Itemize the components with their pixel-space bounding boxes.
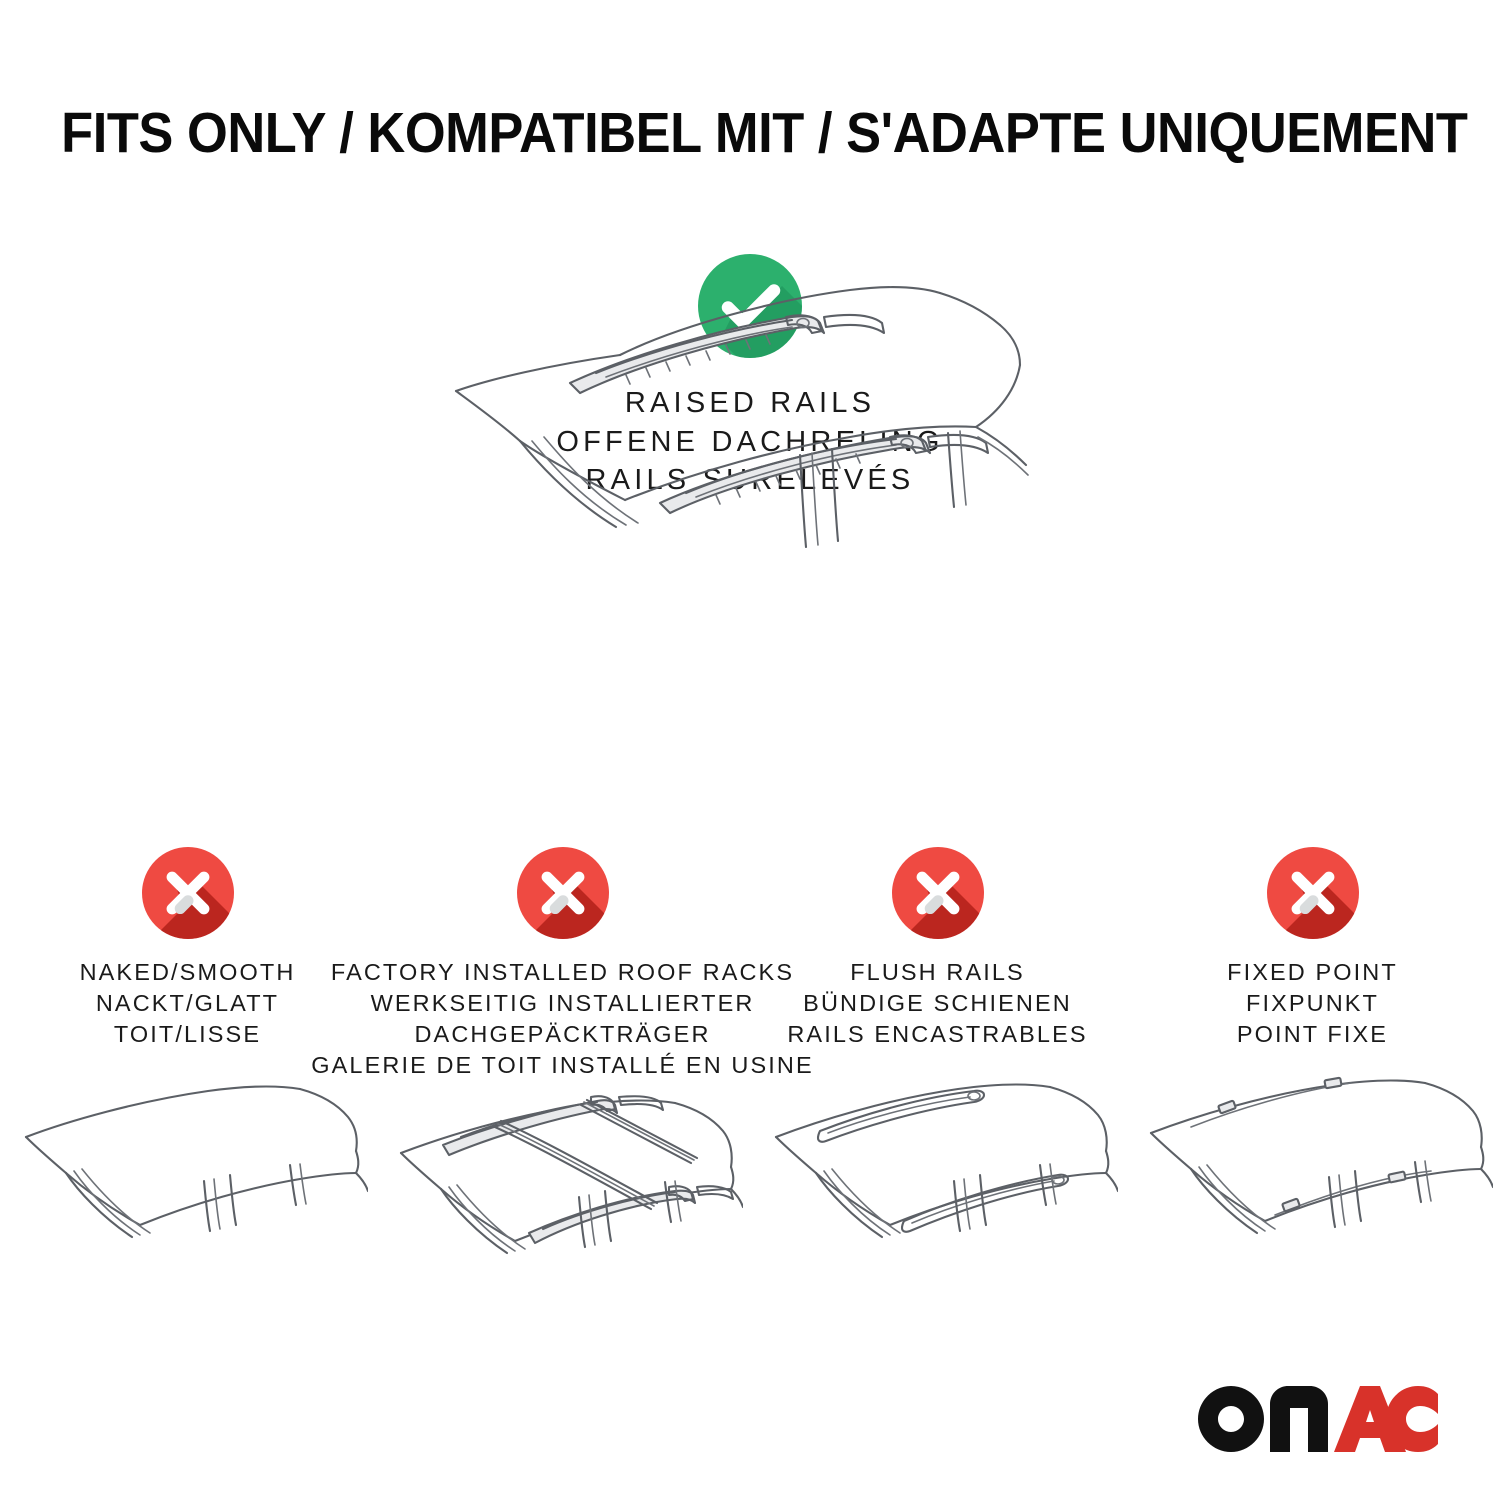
car-roof-fixed-point-illustration [1133,1063,1493,1293]
page-title-text: FITS ONLY / KOMPATIBEL MIT / S'ADAPTE UN… [61,104,1467,164]
x-circle-icon [515,845,611,941]
incompatible-column-flush-rails: FLUSH RAILS BÜNDIGE SCHIENEN RAILS ENCAS… [750,845,1125,1317]
x-circle-icon [1265,845,1361,941]
incompatible-labels: FACTORY INSTALLED ROOF RACKS WERKSEITIG … [311,957,813,1081]
incompatible-column-fixed-point: FIXED POINT FIXPUNKT POINT FIXE [1125,845,1500,1317]
incompatible-label-en: FIXED POINT [1227,957,1398,988]
car-roof-naked-smooth-illustration [8,1063,368,1293]
page-title: FITS ONLY / KOMPATIBEL MIT / S'ADAPTE UN… [0,104,1500,164]
x-circle-icon [140,845,236,941]
incompatible-label-en: FLUSH RAILS [787,957,1087,988]
incompatible-column-factory-roof-racks: FACTORY INSTALLED ROOF RACKS WERKSEITIG … [375,845,750,1317]
incompatible-label-fr: RAILS ENCASTRABLES [787,1019,1087,1050]
incompatible-label-fr: POINT FIXE [1227,1019,1398,1050]
incompatible-label-de: NACKT/GLATT [80,988,296,1019]
car-roof-flush-rails-illustration [758,1063,1118,1293]
incompatible-label-fr: GALERIE DE TOIT INSTALLÉ EN USINE [311,1050,813,1081]
incompatible-label-en: FACTORY INSTALLED ROOF RACKS [311,957,813,988]
incompatible-label-en: NAKED/SMOOTH [80,957,296,988]
incompatible-label-fr: TOIT/LISSE [80,1019,296,1050]
car-roof-raised-rails-illustration [420,255,1080,575]
incompatible-label-de-1: WERKSEITIG INSTALLIERTER [311,988,813,1019]
incompatible-label-de: BÜNDIGE SCHIENEN [787,988,1087,1019]
x-circle-icon [890,845,986,941]
incompatible-section: NAKED/SMOOTH NACKT/GLATT TOIT/LISSE [0,845,1500,1317]
incompatible-labels: NAKED/SMOOTH NACKT/GLATT TOIT/LISSE [80,957,296,1057]
car-roof-factory-roof-racks-illustration [383,1087,743,1317]
incompatible-labels: FIXED POINT FIXPUNKT POINT FIXE [1227,957,1398,1057]
incompatible-label-de-2: DACHGEPÄCKTRÄGER [311,1019,813,1050]
incompatible-labels: FLUSH RAILS BÜNDIGE SCHIENEN RAILS ENCAS… [787,957,1087,1057]
omac-logo [1198,1386,1438,1452]
incompatible-label-de: FIXPUNKT [1227,988,1398,1019]
